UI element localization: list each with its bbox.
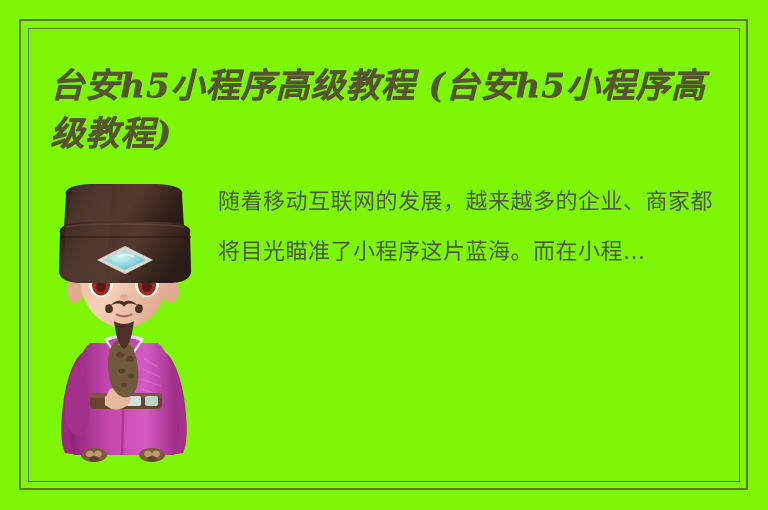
official-hat: [59, 184, 191, 283]
page-title: 台安h5小程序高级教程 (台安h5小程序高级教程): [50, 62, 710, 158]
article-excerpt: 随着移动互联网的发展，越来越多的企业、商家都将目光瞄准了小程序这片蓝海。而在小程…: [218, 178, 734, 278]
robe-group: [61, 335, 186, 462]
chibi-official-illustration: [48, 183, 200, 471]
poster-canvas: 台安h5小程序高级教程 (台安h5小程序高级教程): [0, 0, 768, 510]
